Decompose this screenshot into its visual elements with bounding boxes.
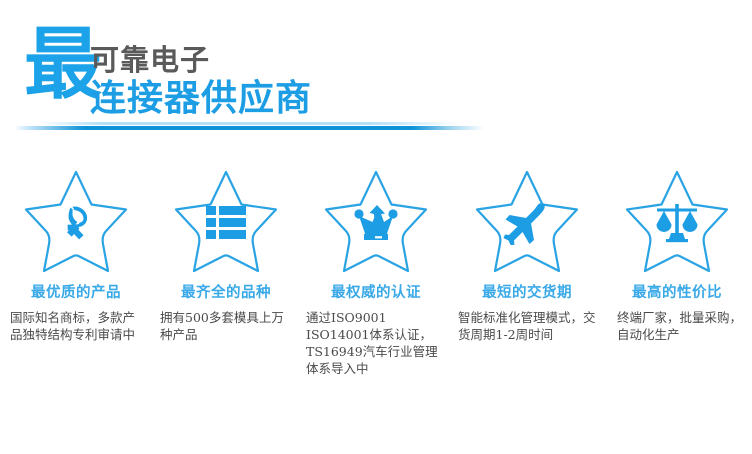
feature-title: 最齐全的品种 [181,284,271,302]
feature-title: 最权威的认证 [331,284,421,302]
feature-description: 拥有500多套模具上万种产品 [156,309,296,343]
feature-item-variety: 最齐全的品种 拥有500多套模具上万种产品 [152,168,300,377]
hero-divider-line [14,126,484,130]
feature-item-quality: 最优质的产品 国际知名商标，多款产品独特结构专利审请中 [0,168,152,377]
star-badge-2 [171,168,281,276]
star-badge-4 [472,168,582,276]
feature-description: 智能标准化管理模式，交货周期1-2周时间 [456,309,598,343]
airplane-icon [472,168,582,276]
feature-title: 最优质的产品 [31,284,121,302]
hero-subtitle-gray: 可靠电子 [90,44,210,76]
balance-scale-icon [622,168,732,276]
star-badge-1 [21,168,131,276]
feature-description: 终端厂家，批量采购，自动化生产 [609,309,745,343]
feature-title: 最短的交货期 [482,284,572,302]
feature-item-certification: 最权威的认证 通过ISO9001 ISO14001体系认证，TS16949汽车行… [300,168,452,377]
banner-header: 最 可靠电子 连接器供应商 [0,0,752,140]
feature-item-delivery: 最短的交货期 智能标准化管理模式，交货周期1-2周时间 [452,168,602,377]
list-grid-icon [171,168,281,276]
hero-divider-glow [40,122,460,125]
feature-item-value: 最高的性价比 终端厂家，批量采购，自动化生产 [602,168,752,377]
star-badge-3 [321,168,431,276]
feature-description: 国际知名商标，多款产品独特结构专利审请中 [8,309,144,343]
feature-description: 通过ISO9001 ISO14001体系认证，TS16949汽车行业管理体系导入… [304,309,448,377]
trophy-award-icon [21,168,131,276]
star-badge-5 [622,168,732,276]
feature-title: 最高的性价比 [632,284,722,302]
features-row: 最优质的产品 国际知名商标，多款产品独特结构专利审请中 [0,168,752,377]
hero-subtitle-blue: 连接器供应商 [90,79,312,119]
crown-icon [321,168,431,276]
